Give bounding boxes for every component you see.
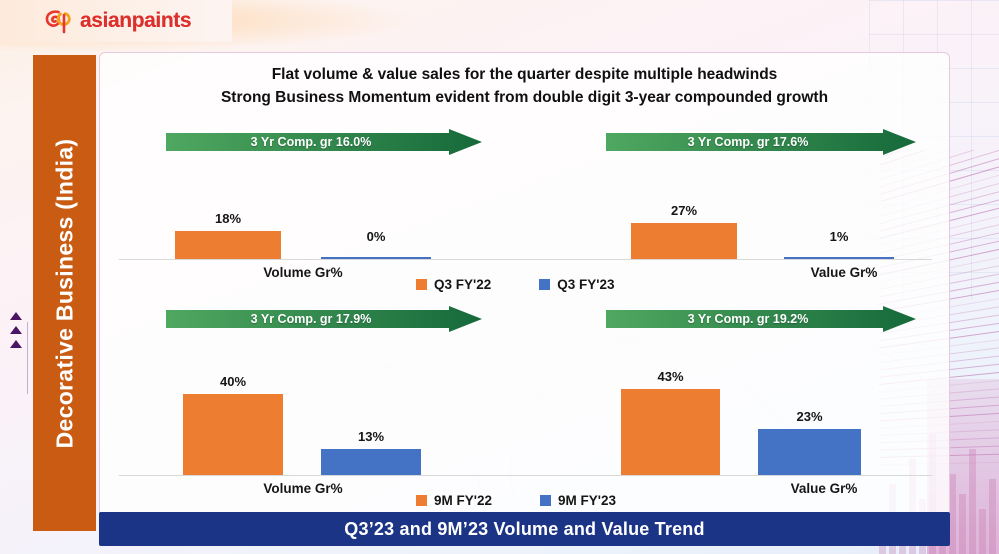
legend-swatch-icon	[540, 495, 551, 506]
bar-9m-value-fy23	[758, 429, 861, 475]
growth-arrow-q3-volume-label: 3 Yr Comp. gr 16.0%	[166, 129, 456, 155]
asian-paints-logo-icon	[44, 8, 78, 34]
bar-9m-volume-fy23	[321, 449, 421, 475]
legend-item-q3-fy22[interactable]: Q3 FY'22	[416, 277, 491, 292]
growth-arrow-q3-value: 3 Yr Comp. gr 17.6%	[606, 129, 916, 155]
legend-9m: 9M FY'22 9M FY'23	[416, 493, 616, 508]
bar-q3-value-fy22	[631, 223, 737, 259]
bar-label-q3-value-fy22: 27%	[631, 203, 737, 218]
category-label-9m-volume: Volume Gr%	[175, 481, 431, 496]
bar-q3-volume-fy23	[321, 257, 431, 259]
vertical-rule-decoration	[27, 322, 28, 394]
legend-q3: Q3 FY'22 Q3 FY'23	[416, 277, 615, 292]
legend-label-9m-fy23: 9M FY'23	[558, 493, 616, 508]
chart-9m: 40% 13% Volume Gr% 43% 23% Value Gr%	[119, 373, 932, 475]
bar-label-9m-value-fy23: 23%	[758, 409, 861, 424]
bar-label-9m-volume-fy23: 13%	[321, 429, 421, 444]
legend-label-9m-fy22: 9M FY'22	[434, 493, 492, 508]
legend-swatch-icon	[416, 279, 427, 290]
chart-q3-axis	[119, 259, 932, 260]
bar-q3-volume-fy22	[175, 231, 281, 259]
bar-label-q3-volume-fy22: 18%	[175, 211, 281, 226]
legend-swatch-icon	[416, 495, 427, 506]
category-label-q3-volume: Volume Gr%	[175, 265, 431, 280]
legend-label-q3-fy23: Q3 FY'23	[557, 277, 614, 292]
bar-label-9m-volume-fy22: 40%	[183, 374, 283, 389]
category-label-9m-value: Value Gr%	[739, 481, 909, 496]
category-label-q3-value: Value Gr%	[759, 265, 929, 280]
slide-root: asianpaints Decorative Business (India) …	[0, 0, 999, 554]
content-card: Flat volume & value sales for the quarte…	[99, 52, 950, 534]
headline-line-2: Strong Business Momentum evident from do…	[100, 86, 949, 109]
legend-label-q3-fy22: Q3 FY'22	[434, 277, 491, 292]
bar-9m-volume-fy22	[183, 394, 283, 475]
legend-item-9m-fy23[interactable]: 9M FY'23	[540, 493, 616, 508]
brand-name: asianpaints	[80, 9, 191, 33]
triangle-markers-icon	[10, 312, 22, 354]
bottom-banner: Q3’23 and 9M’23 Volume and Value Trend	[99, 512, 950, 546]
side-label-text: Decorative Business (India)	[51, 138, 78, 448]
chart-9m-axis	[119, 475, 932, 476]
growth-arrow-9m-volume-label: 3 Yr Comp. gr 17.9%	[166, 306, 456, 332]
legend-item-q3-fy23[interactable]: Q3 FY'23	[539, 277, 614, 292]
bar-label-q3-volume-fy23: 0%	[321, 229, 431, 244]
growth-arrow-9m-value-label: 3 Yr Comp. gr 19.2%	[606, 306, 890, 332]
bottom-banner-text: Q3’23 and 9M’23 Volume and Value Trend	[344, 519, 704, 540]
chart-q3: 18% 0% Volume Gr% 27% 1% Value Gr%	[119, 203, 932, 259]
legend-swatch-icon	[539, 279, 550, 290]
growth-arrow-q3-volume: 3 Yr Comp. gr 16.0%	[166, 129, 482, 155]
headline-block: Flat volume & value sales for the quarte…	[100, 63, 949, 109]
growth-arrow-q3-value-label: 3 Yr Comp. gr 17.6%	[606, 129, 890, 155]
side-label-decorative-business: Decorative Business (India)	[33, 55, 96, 531]
bar-q3-value-fy23	[784, 257, 894, 259]
growth-arrow-9m-volume: 3 Yr Comp. gr 17.9%	[166, 306, 482, 332]
legend-item-9m-fy22[interactable]: 9M FY'22	[416, 493, 492, 508]
bar-label-q3-value-fy23: 1%	[784, 229, 894, 244]
brand-logo[interactable]: asianpaints	[0, 0, 232, 42]
bar-label-9m-value-fy22: 43%	[621, 369, 720, 384]
bar-9m-value-fy22	[621, 389, 720, 475]
headline-line-1: Flat volume & value sales for the quarte…	[100, 63, 949, 86]
growth-arrow-9m-value: 3 Yr Comp. gr 19.2%	[606, 306, 916, 332]
